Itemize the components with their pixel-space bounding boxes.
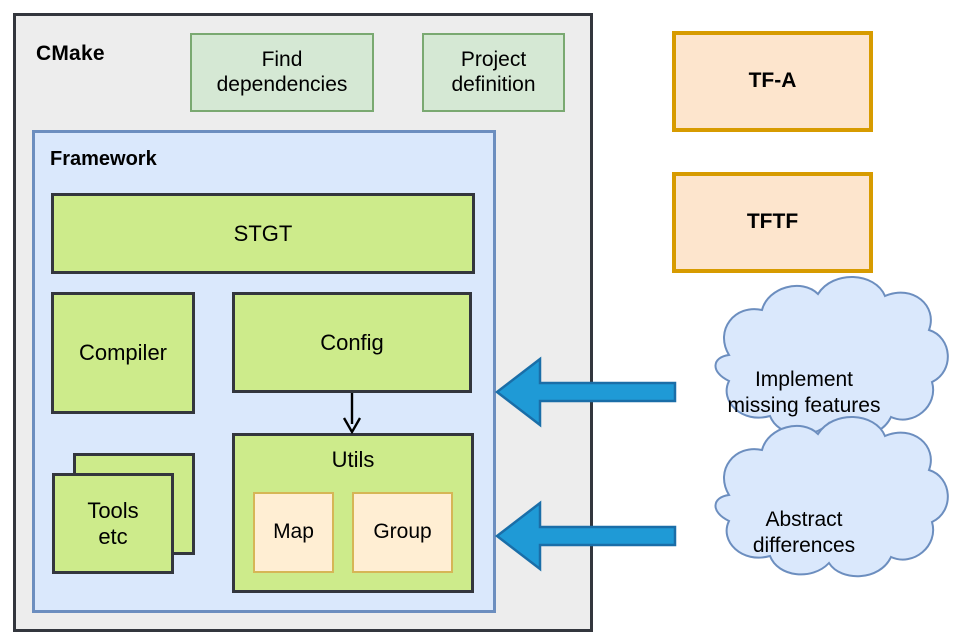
target-tfa-label: TF-A: [749, 69, 797, 94]
component-compiler: Compiler: [51, 292, 195, 414]
component-stgt: STGT: [51, 193, 475, 274]
component-tools-label: Tools etc: [87, 498, 138, 550]
utils-item-group: Group: [352, 492, 453, 573]
cloud-abstract-differences-label: Abstract differences: [688, 498, 920, 568]
cloud-implement-missing-features-label: Implement missing features: [688, 358, 920, 428]
component-stgt-label: STGT: [234, 221, 293, 247]
component-config: Config: [232, 292, 472, 393]
component-compiler-label: Compiler: [79, 340, 167, 366]
component-utils-label: Utils: [332, 447, 375, 473]
utils-item-map: Map: [253, 492, 334, 573]
cmake-title: CMake: [36, 42, 105, 66]
utils-item-map-label: Map: [273, 520, 314, 545]
component-tools: Tools etc: [52, 473, 174, 574]
component-config-label: Config: [320, 330, 384, 356]
cmake-step-project-definition-label: Project definition: [451, 48, 535, 98]
framework-title: Framework: [50, 148, 157, 171]
cmake-step-find-dependencies: Find dependencies: [190, 33, 374, 112]
cmake-step-find-dependencies-label: Find dependencies: [217, 48, 348, 98]
target-tfa: TF-A: [672, 31, 873, 132]
target-tftf: TFTF: [672, 172, 873, 273]
utils-item-group-label: Group: [373, 520, 431, 545]
diagram-canvas: CMake Find dependencies Project definiti…: [0, 0, 964, 644]
target-tftf-label: TFTF: [747, 210, 798, 235]
cmake-step-project-definition: Project definition: [422, 33, 565, 112]
